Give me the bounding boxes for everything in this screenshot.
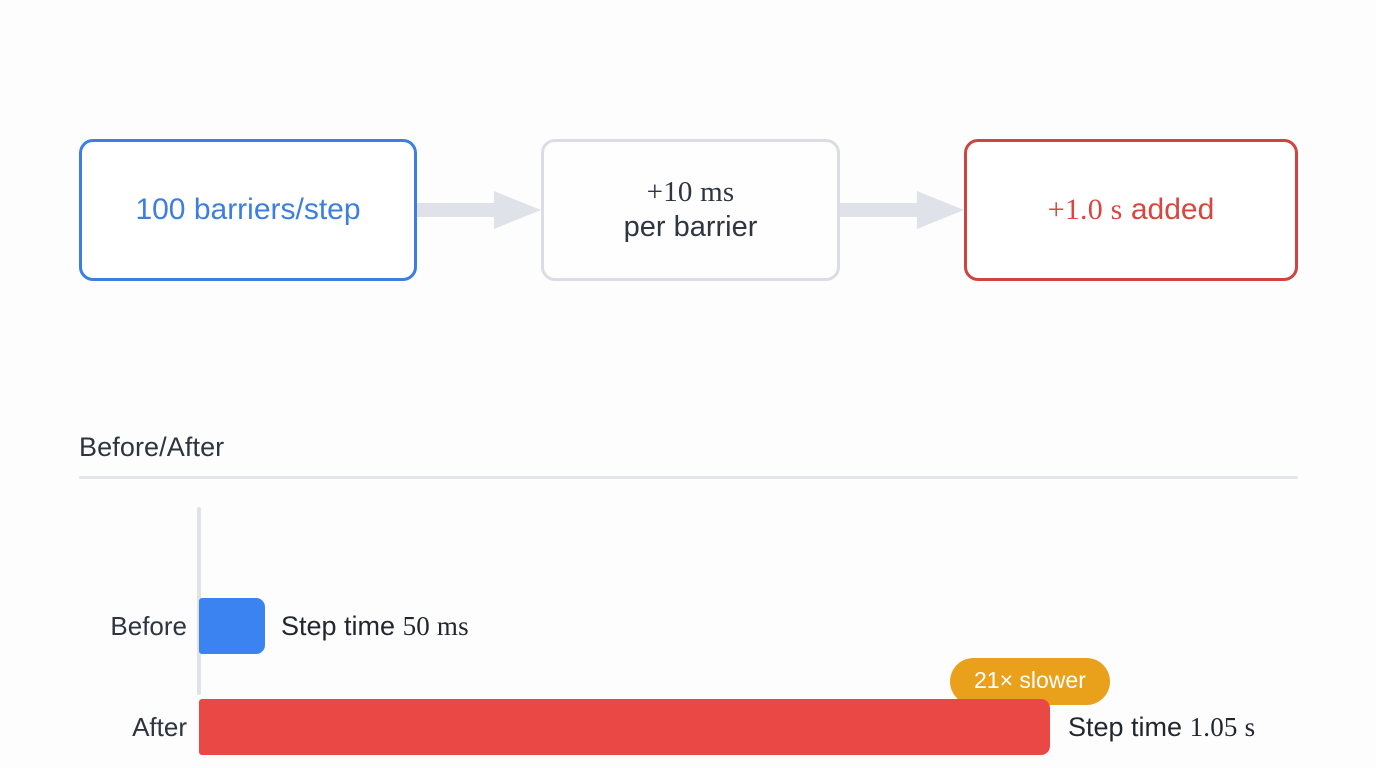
chart-bar-after-value-prefix: Step time <box>1068 712 1182 742</box>
before-after-bar-chart: Before Step time 50 ms 21× slower After … <box>79 505 1298 703</box>
chart-row-after-label: After <box>79 712 187 743</box>
chart-row-before: Before Step time 50 ms <box>79 598 1298 654</box>
slowdown-badge: 21× slower <box>950 658 1110 705</box>
flow-arrow-1 <box>417 188 541 232</box>
flow-step-total-added-value: +1.0 s <box>1048 193 1123 226</box>
flow-arrow-2 <box>840 188 964 232</box>
flow-step-per-barrier-cost-unit: per barrier <box>624 210 758 245</box>
chart-row-after: After Step time 1.05 s <box>79 699 1298 755</box>
chart-row-before-label: Before <box>79 611 187 642</box>
flow-step-barriers: 100 barriers/step <box>79 139 417 281</box>
flow-step-barriers-label: 100 barriers/step <box>135 192 360 229</box>
flow-step-total-added: +1.0 s added <box>964 139 1298 281</box>
chart-bar-before-value-number: 50 ms <box>403 611 469 641</box>
chart-bar-before-value-prefix: Step time <box>281 611 395 641</box>
panel-title: Before/After <box>79 432 1298 463</box>
flow-step-per-barrier-cost-value: +10 ms <box>647 175 735 210</box>
causal-flow-diagram: 100 barriers/step +10 ms per barrier +1.… <box>79 139 1298 281</box>
arrow-right-icon <box>840 188 964 232</box>
chart-bar-after-value-number: 1.05 s <box>1190 712 1256 742</box>
flow-step-total-added-text: +1.0 s added <box>1048 192 1215 229</box>
flow-step-per-barrier-cost: +10 ms per barrier <box>541 139 840 281</box>
before-after-panel: Before/After Before Step time 50 ms 21× … <box>79 432 1298 703</box>
slide-canvas: 100 barriers/step +10 ms per barrier +1.… <box>0 0 1376 768</box>
flow-step-total-added-suffix: added <box>1131 193 1214 226</box>
arrow-right-icon <box>417 188 541 232</box>
chart-bar-before <box>199 598 265 654</box>
panel-divider <box>79 476 1298 479</box>
chart-bar-after <box>199 699 1050 755</box>
chart-bar-after-value: Step time 1.05 s <box>1068 712 1255 743</box>
chart-bar-before-value: Step time 50 ms <box>281 611 469 642</box>
